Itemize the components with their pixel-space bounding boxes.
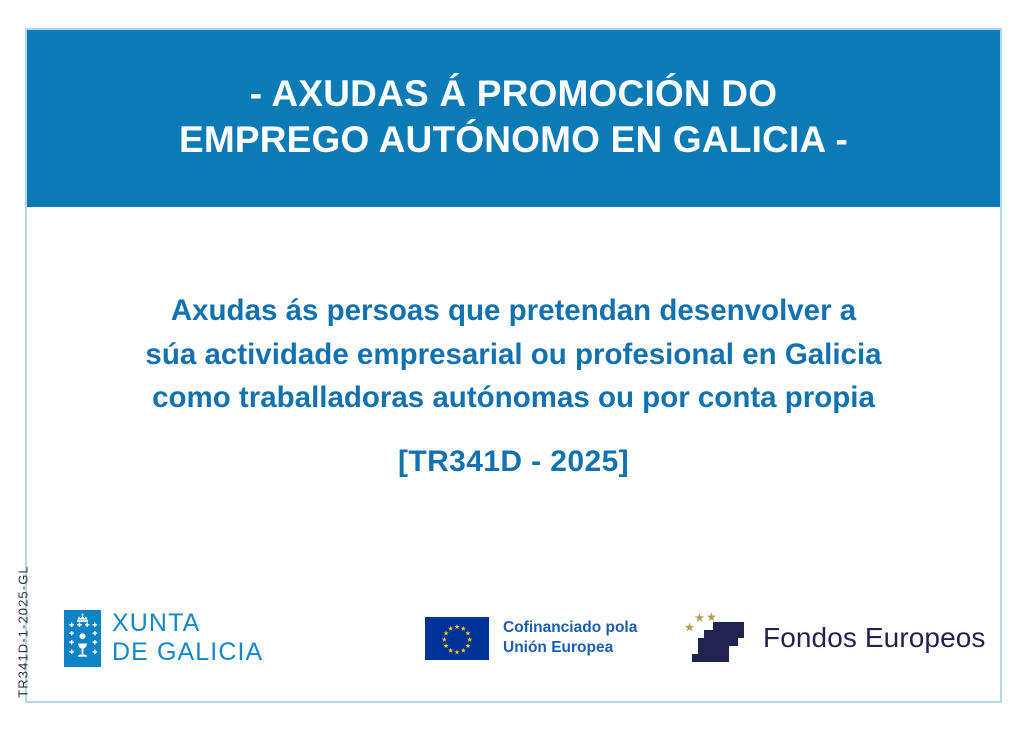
logo-eu-caption: Cofinanciado pola Unión Europea [503, 618, 637, 659]
logo-xunta-de-galicia: XUNTA DE GALICIA [64, 609, 263, 667]
poster-header-band: - AXUDAS Á PROMOCIÓN DO EMPREGO AUTÓNOMO… [27, 30, 1000, 207]
logo-strip: XUNTA DE GALICIA [27, 593, 1000, 683]
logo-cofinanciado-union-europea: Cofinanciado pola Unión Europea [425, 617, 637, 660]
poster-card: - AXUDAS Á PROMOCIÓN DO EMPREGO AUTÓNOMO… [25, 28, 1002, 703]
fondos-europeos-stairs-icon [683, 610, 749, 666]
programme-code: [TR341D - 2025] [55, 419, 972, 479]
poster-title: - AXUDAS Á PROMOCIÓN DO EMPREGO AUTÓNOMO… [179, 71, 848, 163]
side-reference: TR341D-1-2025-GL [0, 548, 24, 718]
side-reference-code: TR341D-1-2025-GL [16, 547, 31, 717]
galicia-coat-of-arms-icon [64, 610, 101, 667]
poster-body: Axudas ás persoas que pretendan desenvol… [27, 207, 1000, 744]
logo-xunta-wordmark: XUNTA DE GALICIA [112, 609, 263, 667]
logo-fondos-europeos-wordmark: Fondos Europeos [763, 622, 986, 654]
european-union-flag-icon [425, 617, 489, 660]
logo-fondos-europeos: Fondos Europeos [683, 610, 986, 666]
poster-lead-paragraph: Axudas ás persoas que pretendan desenvol… [55, 207, 972, 419]
